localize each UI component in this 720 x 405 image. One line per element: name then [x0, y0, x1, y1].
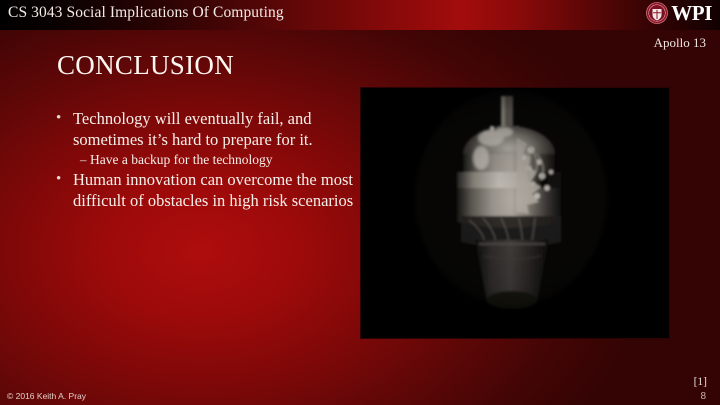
presentation-slide: CS 3043 Social Implications Of Computing…: [0, 0, 720, 405]
page-number: 8: [700, 391, 706, 402]
bullet-text: Technology will eventually fail, and som…: [73, 108, 356, 150]
sub-bullet-marker-icon: –: [80, 150, 90, 169]
bullet-marker-icon: •: [56, 108, 73, 129]
sub-bullet-item: – Have a backup for the technology: [80, 150, 356, 169]
course-title: CS 3043 Social Implications Of Computing: [8, 4, 284, 22]
slide-body-bullets: • Technology will eventually fail, and s…: [56, 108, 356, 211]
bullet-marker-icon: •: [56, 169, 73, 190]
bullet-item: • Human innovation can overcome the most…: [56, 169, 356, 211]
bullet-item: • Technology will eventually fail, and s…: [56, 108, 356, 150]
sub-bullet-text: Have a backup for the technology: [90, 150, 273, 169]
bullet-text: Human innovation can overcome the most d…: [73, 169, 356, 211]
wpi-logo: WPI: [646, 2, 712, 24]
slide-header-bar: CS 3043 Social Implications Of Computing…: [0, 0, 720, 30]
wpi-wordmark: WPI: [671, 3, 712, 24]
wpi-seal-icon: [646, 2, 668, 24]
copyright-notice: © 2016 Keith A. Pray: [7, 391, 86, 401]
topic-label: Apollo 13: [654, 35, 706, 51]
apollo-13-service-module-photo: [360, 87, 670, 339]
citation-reference: [1]: [694, 376, 707, 388]
slide-title: CONCLUSION: [57, 50, 234, 81]
